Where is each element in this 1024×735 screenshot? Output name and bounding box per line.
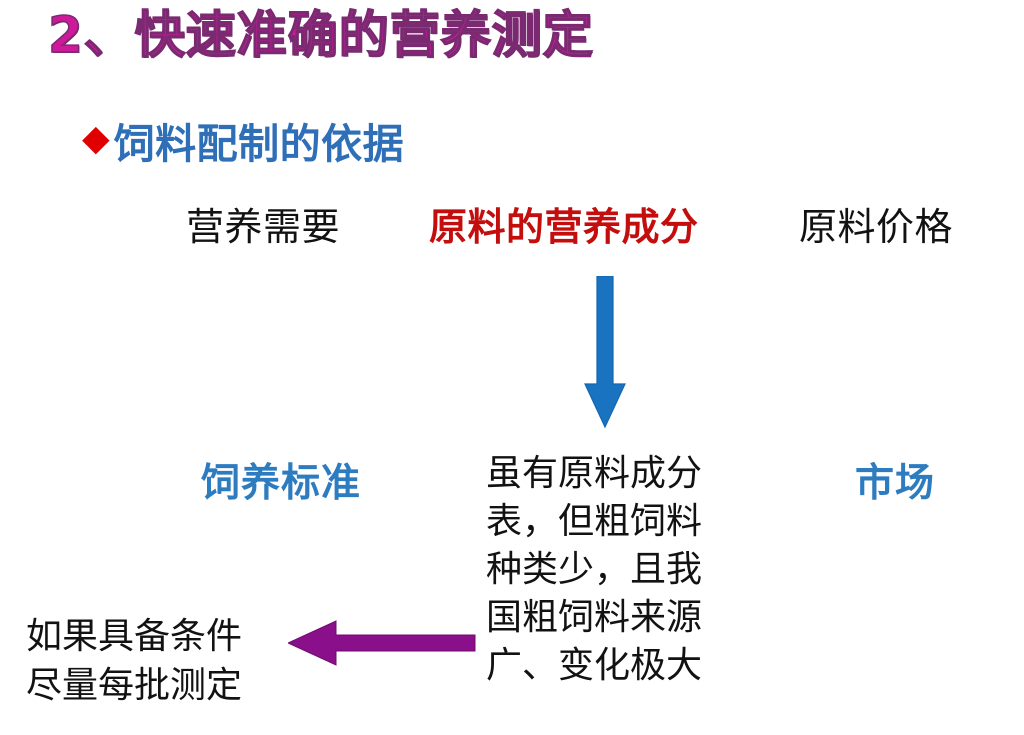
center-note-block: 虽有原料成分 表，但粗饲料 种类少，且我 国粗饲料来源 广、变化极大 [486, 450, 746, 690]
center-note-line: 广、变化极大 [486, 642, 746, 690]
page-title: 2、快速准确的营养测定 [48, 8, 594, 63]
source-ingredient-nutrient-content: 原料的营养成分 [429, 208, 699, 246]
conclusion-line: 如果具备条件 [26, 612, 242, 661]
center-note-line: 虽有原料成分 [486, 450, 746, 498]
conclusion-block: 如果具备条件 尽量每批测定 [26, 612, 242, 710]
purple-left-arrow-icon [288, 618, 476, 668]
bullet-label: 饲料配制的依据 [114, 110, 405, 170]
slide-canvas: 2、快速准确的营养测定 ◆ 饲料配制的依据 营养需要 原料的营养成分 原料价格 … [0, 0, 1024, 735]
bullet-line: ◆ 饲料配制的依据 [82, 110, 404, 170]
blue-down-arrow-icon [584, 276, 626, 428]
feeding-standard-label: 饲养标准 [201, 452, 361, 508]
center-note-line: 种类少，且我 [486, 546, 746, 594]
market-label: 市场 [855, 452, 935, 508]
diamond-bullet-icon: ◆ [82, 121, 110, 157]
center-note-line: 表，但粗饲料 [486, 498, 746, 546]
center-note-line: 国粗饲料来源 [486, 594, 746, 642]
row-sources: 营养需要 原料的营养成分 原料价格 [0, 208, 1024, 264]
source-nutrient-requirement: 营养需要 [186, 208, 340, 246]
conclusion-line: 尽量每批测定 [26, 661, 242, 710]
source-ingredient-price: 原料价格 [799, 208, 953, 246]
